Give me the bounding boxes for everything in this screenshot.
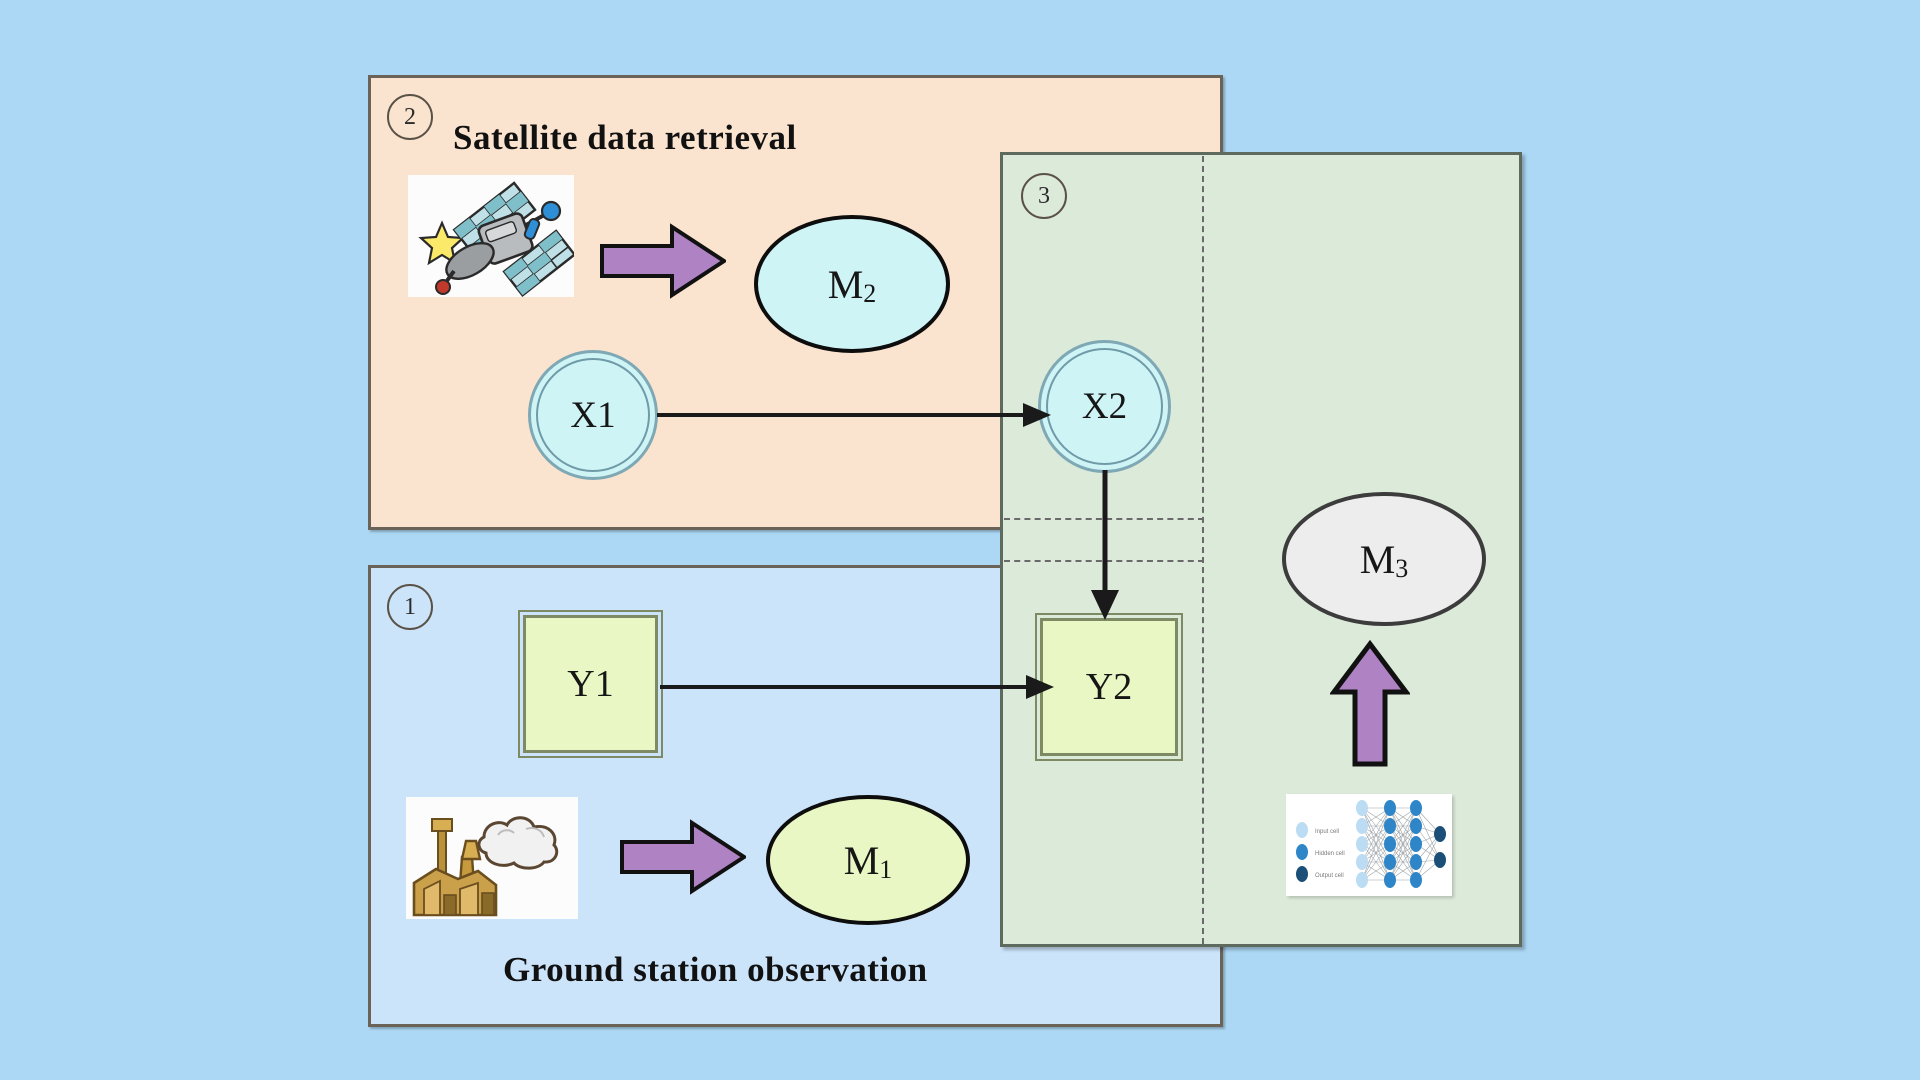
neural-network-svg: Input cell Hidden cell Output cell	[1286, 794, 1452, 896]
node-m2: M2	[754, 215, 950, 353]
factory-icon-svg	[406, 797, 578, 919]
edge-x2-to-y2	[1085, 470, 1125, 622]
purple-up-arrow-icon	[1330, 640, 1410, 773]
node-x1-label: X1	[536, 358, 650, 472]
panel-badge-1: 1	[387, 584, 433, 630]
purple-right-arrow-icon	[620, 818, 746, 901]
edge-x1-to-x2	[655, 395, 1055, 435]
panel-badge-3: 3	[1021, 173, 1067, 219]
neural-network-icon: Input cell Hidden cell Output cell	[1286, 794, 1452, 896]
node-x2: X2	[1038, 340, 1171, 473]
edge-y1-to-y2	[658, 667, 1058, 707]
node-m1: M1	[766, 795, 970, 925]
nn-legend-input: Input cell	[1315, 829, 1339, 835]
factory-smokestack-icon	[406, 797, 578, 919]
node-m1-label: M	[844, 837, 880, 884]
satellite-icon-svg	[408, 175, 574, 297]
figure-canvas: 2 Satellite data retrieval	[0, 0, 1920, 1080]
panel-satellite-heading: Satellite data retrieval	[453, 118, 797, 158]
purple-right-arrow-svg	[620, 818, 746, 896]
node-x1: X1	[528, 350, 658, 480]
purple-right-arrow-icon	[600, 222, 726, 305]
dashed-divider-vertical	[1202, 156, 1204, 944]
nn-legend-hidden: Hidden cell	[1315, 851, 1345, 857]
satellite-icon	[408, 175, 574, 297]
panel-badge-2: 2	[387, 94, 433, 140]
node-x2-label: X2	[1046, 348, 1163, 465]
nn-legend-output: Output cell	[1315, 873, 1344, 879]
node-m2-label: M	[828, 261, 864, 308]
purple-right-arrow-svg	[600, 222, 726, 300]
node-y1: Y1	[523, 615, 658, 753]
purple-up-arrow-svg	[1330, 640, 1410, 768]
node-m3: M3	[1282, 492, 1486, 626]
node-y2: Y2	[1040, 618, 1178, 756]
panel-ground-heading: Ground station observation	[503, 950, 928, 990]
node-m3-label: M	[1360, 536, 1396, 583]
